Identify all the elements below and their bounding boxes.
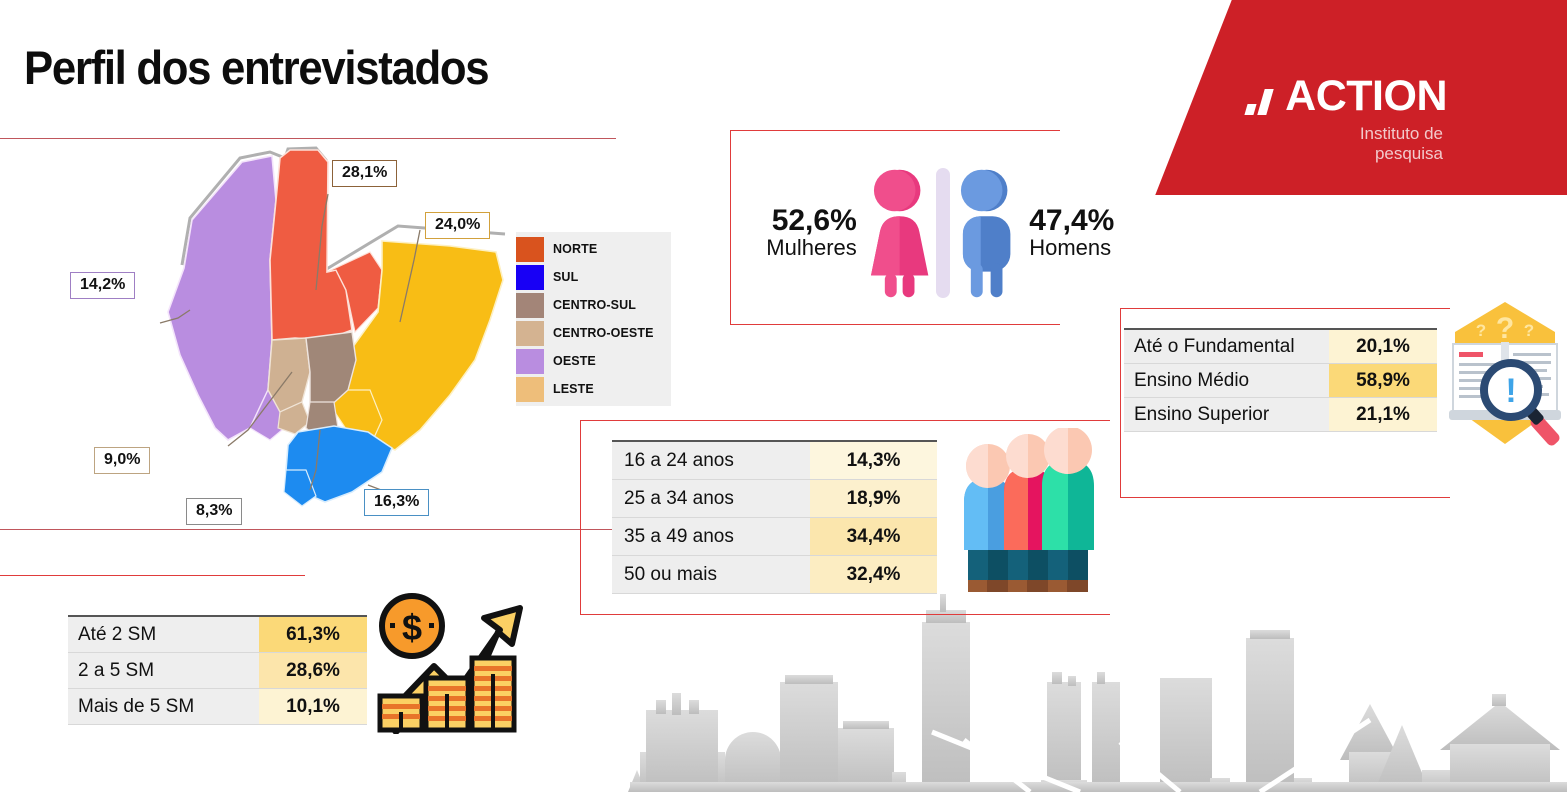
age-value-1: 18,9%	[810, 480, 937, 517]
logo-tagline-line2: pesquisa	[1244, 144, 1443, 164]
legend-item-leste: LESTE	[516, 375, 671, 403]
gender-divider	[936, 168, 950, 298]
logo-wordmark: ACTION	[1285, 78, 1447, 115]
legend-label-oeste: OESTE	[553, 354, 596, 368]
legend-item-centro-oeste: CENTRO-OESTE	[516, 319, 671, 347]
legend-swatch-oeste	[516, 349, 544, 374]
age-label-2: 35 a 49 anos	[612, 518, 810, 555]
edu-label-2: Ensino Superior	[1124, 398, 1329, 431]
svg-text:?: ?	[1496, 312, 1514, 345]
education-table: Até o Fundamental 20,1% Ensino Médio 58,…	[1124, 328, 1437, 432]
svg-text:?: ?	[1476, 321, 1486, 340]
legend-label-centro-sul: CENTRO-SUL	[553, 298, 636, 312]
male-label: Homens	[1029, 236, 1138, 260]
income-value-0: 61,3%	[259, 617, 367, 652]
action-logo-banner: ACTION Instituto de pesquisa	[1117, 0, 1567, 195]
legend-label-norte: NORTE	[553, 242, 597, 256]
three-people-icon	[950, 428, 1105, 603]
gender-block: 52,6% Mulheres 47,4% Homens	[748, 160, 1138, 305]
age-table: 16 a 24 anos 14,3% 25 a 34 anos 18,9% 35…	[612, 440, 937, 594]
male-percent: 47,4%	[1029, 205, 1138, 237]
female-percent: 52,6%	[748, 205, 857, 237]
callout-leste: 24,0%	[425, 212, 490, 239]
age-label-3: 50 ou mais	[612, 556, 810, 593]
region-map[interactable]	[120, 140, 520, 520]
legend-item-norte: NORTE	[516, 235, 671, 263]
callout-oeste: 14,2%	[70, 272, 135, 299]
age-label-0: 16 a 24 anos	[612, 442, 810, 479]
table-row: 25 a 34 anos 18,9%	[612, 480, 937, 518]
logo-tagline-line1: Instituto de	[1244, 124, 1443, 144]
table-row: Ensino Médio 58,9%	[1124, 364, 1437, 398]
table-row: Até o Fundamental 20,1%	[1124, 330, 1437, 364]
infographic-slide: ACTION Instituto de pesquisa Perfil dos …	[0, 0, 1567, 792]
income-value-2: 10,1%	[259, 689, 367, 724]
logo-slashes-icon	[1244, 87, 1282, 115]
legend-item-sul: SUL	[516, 263, 671, 291]
female-figure-icon	[869, 168, 930, 298]
edu-label-1: Ensino Médio	[1124, 364, 1329, 397]
callout-centro-oeste: 9,0%	[94, 447, 150, 474]
money-growth-chart-icon: $	[372, 586, 527, 734]
legend-label-leste: LESTE	[553, 382, 594, 396]
book-magnifier-question-icon: ? ? ? !	[1443, 298, 1567, 453]
male-figure-icon	[956, 168, 1017, 298]
legend-item-centro-sul: CENTRO-SUL	[516, 291, 671, 319]
legend-swatch-centro-sul	[516, 293, 544, 318]
table-row: 35 a 49 anos 34,4%	[612, 518, 937, 556]
age-value-2: 34,4%	[810, 518, 937, 555]
income-label-2: Mais de 5 SM	[68, 689, 259, 724]
table-row: Ensino Superior 21,1%	[1124, 398, 1437, 432]
legend-item-oeste: OESTE	[516, 347, 671, 375]
table-row: 16 a 24 anos 14,3%	[612, 442, 937, 480]
age-value-3: 32,4%	[810, 556, 937, 593]
income-label-1: 2 a 5 SM	[68, 653, 259, 688]
callout-centro-sul: 8,3%	[186, 498, 242, 525]
edu-label-0: Até o Fundamental	[1124, 330, 1329, 363]
age-value-0: 14,3%	[810, 442, 937, 479]
age-label-1: 25 a 34 anos	[612, 480, 810, 517]
legend-swatch-leste	[516, 377, 544, 402]
svg-text:?: ?	[1524, 321, 1534, 340]
edu-value-2: 21,1%	[1329, 398, 1437, 431]
city-skyline-icon	[560, 592, 1567, 792]
income-value-1: 28,6%	[259, 653, 367, 688]
page-title: Perfil dos entrevistados	[24, 40, 488, 95]
legend-swatch-norte	[516, 237, 544, 262]
callout-sul: 16,3%	[364, 489, 429, 516]
svg-text:$: $	[402, 607, 422, 648]
map-legend: NORTE SUL CENTRO-SUL CENTRO-OESTE OESTE …	[516, 232, 671, 406]
edu-value-1: 58,9%	[1329, 364, 1437, 397]
svg-text:!: !	[1505, 372, 1516, 410]
edu-value-0: 20,1%	[1329, 330, 1437, 363]
table-row: 50 ou mais 32,4%	[612, 556, 937, 594]
female-label: Mulheres	[748, 236, 857, 260]
table-row: 2 a 5 SM 28,6%	[68, 653, 367, 689]
legend-label-centro-oeste: CENTRO-OESTE	[553, 326, 654, 340]
income-table: Até 2 SM 61,3% 2 a 5 SM 28,6% Mais de 5 …	[68, 615, 367, 725]
callout-norte: 28,1%	[332, 160, 397, 187]
legend-label-sul: SUL	[553, 270, 578, 284]
legend-swatch-sul	[516, 265, 544, 290]
table-row: Até 2 SM 61,3%	[68, 617, 367, 653]
legend-swatch-centro-oeste	[516, 321, 544, 346]
table-row: Mais de 5 SM 10,1%	[68, 689, 367, 725]
income-label-0: Até 2 SM	[68, 617, 259, 652]
